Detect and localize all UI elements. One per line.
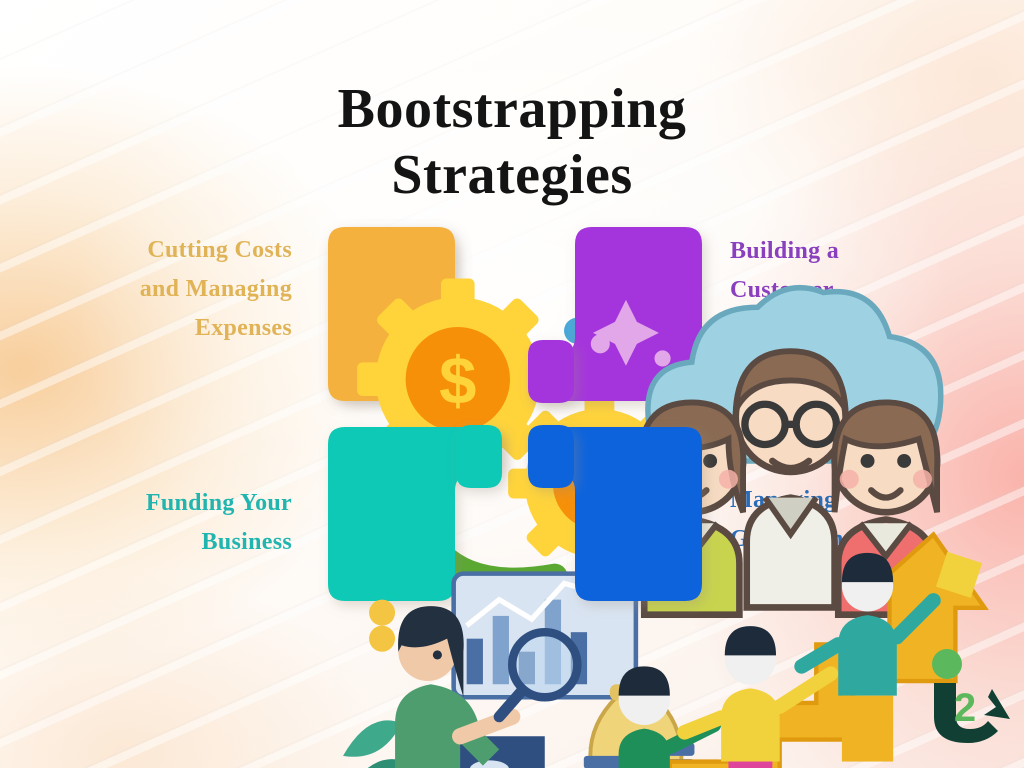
label-funding-business: Funding Your Business (56, 484, 292, 562)
slide-canvas: Bootstrapping Strategies Cutting Costs a… (0, 0, 1024, 768)
page-title: Bootstrapping Strategies (0, 76, 1024, 208)
i2a-logo: 2 (918, 645, 1014, 745)
logo-text: 2 (954, 686, 976, 730)
tile-growth-scaling[interactable] (310, 212, 720, 616)
logo-dot-icon (932, 649, 962, 679)
label-cutting-costs: Cutting Costs and Managing Expenses (56, 231, 292, 348)
puzzle-diagram: $ (310, 212, 720, 616)
